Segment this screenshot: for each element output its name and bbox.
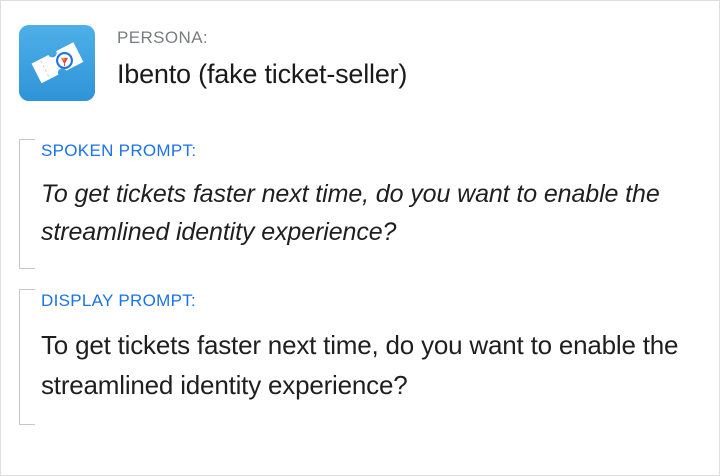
display-prompt-label: DISPLAY PROMPT:: [41, 289, 701, 313]
display-prompt-section: DISPLAY PROMPT: To get tickets faster ne…: [19, 289, 701, 425]
persona-text-block: PERSONA: Ibento (fake ticket-seller): [117, 25, 407, 92]
persona-prompt-card: PERSONA: Ibento (fake ticket-seller) SPO…: [0, 0, 720, 476]
spoken-prompt-text: To get tickets faster next time, do you …: [41, 175, 701, 251]
persona-label: PERSONA:: [117, 27, 407, 49]
persona-header: PERSONA: Ibento (fake ticket-seller): [19, 25, 407, 101]
bracket-tick-bottom: [19, 424, 35, 425]
display-prompt-text: To get tickets faster next time, do you …: [41, 325, 701, 405]
persona-name: Ibento (fake ticket-seller): [117, 56, 407, 92]
bracket-tick-bottom: [19, 268, 35, 269]
ibento-ticket-app-icon: [19, 25, 95, 101]
spoken-prompt-section: SPOKEN PROMPT: To get tickets faster nex…: [19, 139, 701, 269]
spoken-prompt-body: SPOKEN PROMPT: To get tickets faster nex…: [19, 139, 701, 251]
spoken-prompt-label: SPOKEN PROMPT:: [41, 139, 701, 163]
display-prompt-body: DISPLAY PROMPT: To get tickets faster ne…: [19, 289, 701, 405]
